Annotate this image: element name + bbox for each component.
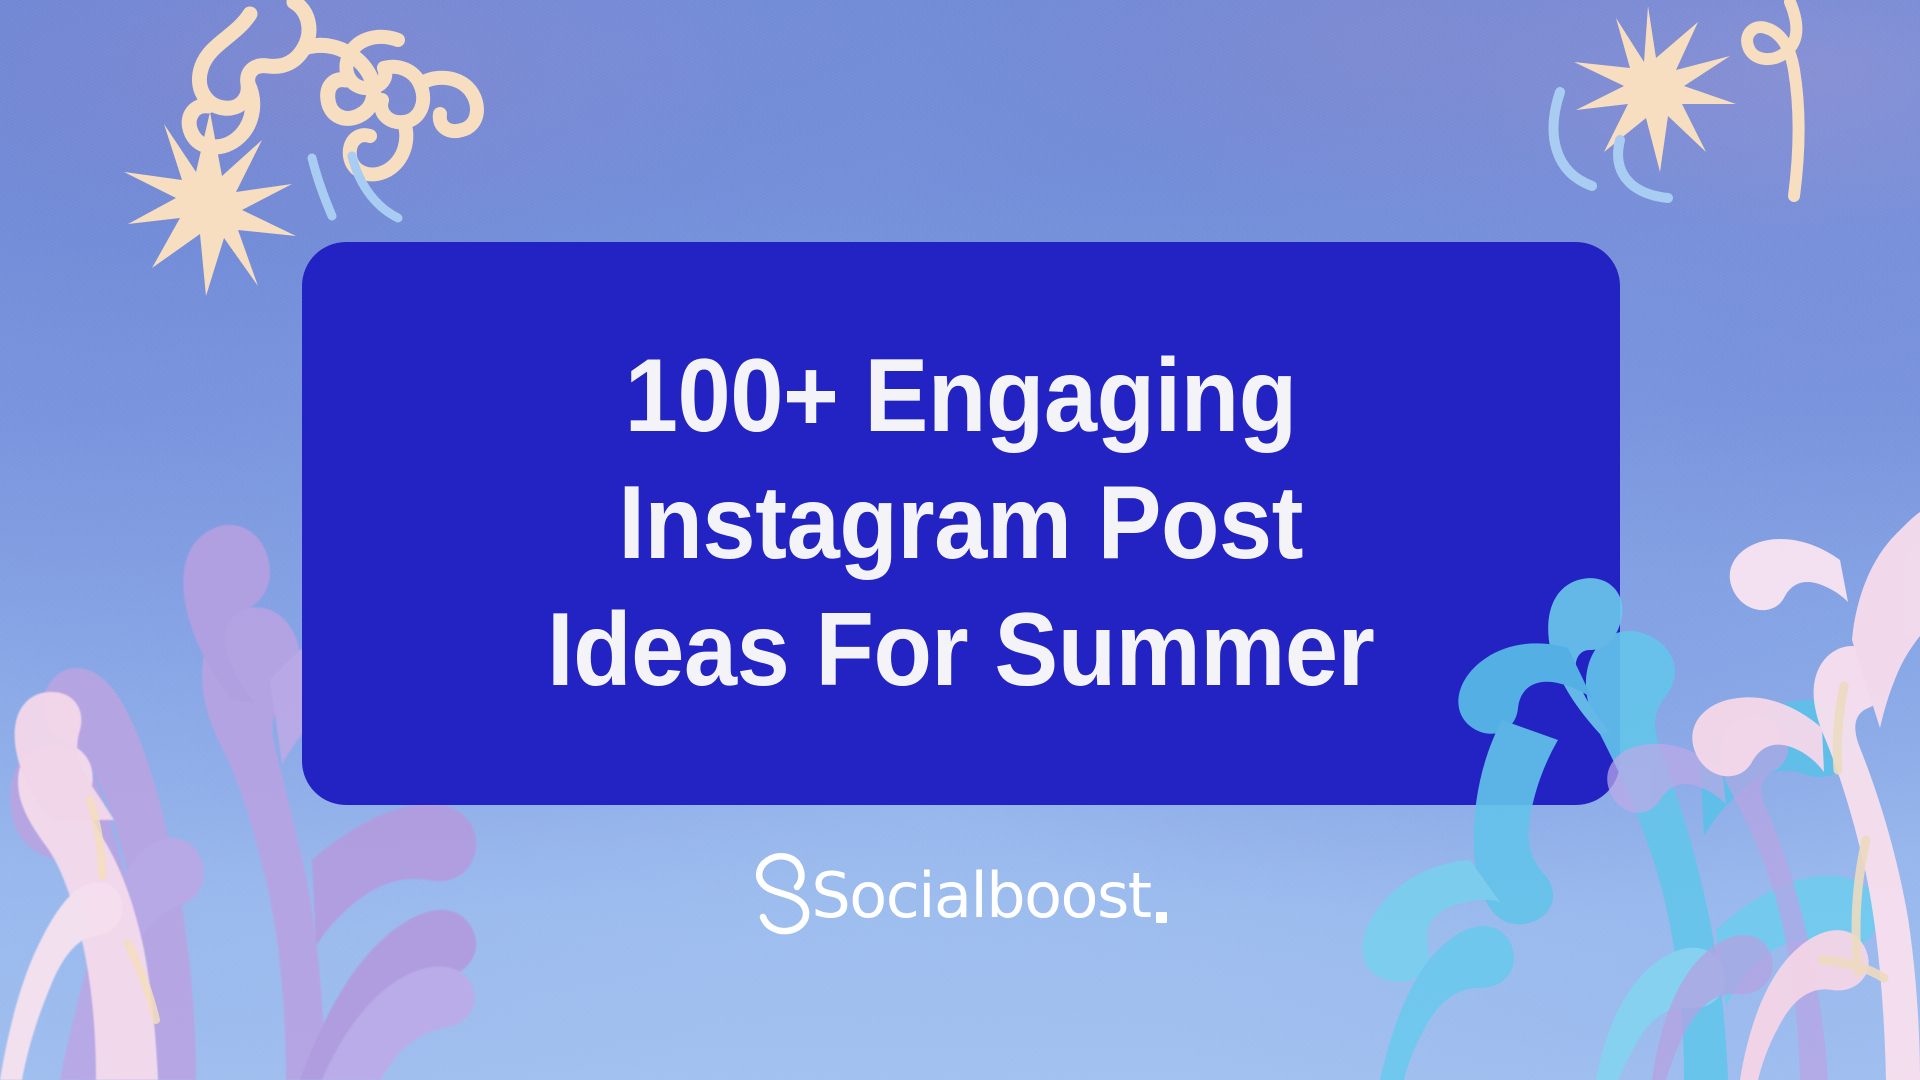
page-title: 100+ Engaging Instagram Post Ideas For S… xyxy=(510,333,1411,714)
starburst-doodle-right xyxy=(1574,6,1736,172)
starfish-outline-doodle-2 xyxy=(346,37,477,175)
wave-stroke-doodle xyxy=(312,156,398,218)
headline-card: 100+ Engaging Instagram Post Ideas For S… xyxy=(302,242,1620,805)
brand-logo[interactable]: Socialboost xyxy=(0,848,1920,938)
coral-pink-right xyxy=(1692,512,1920,1080)
wave-stroke-doodle-right xyxy=(1554,92,1668,198)
logo-wordmark: Socialboost xyxy=(811,865,1150,927)
socialboost-s-swash-icon xyxy=(753,851,815,935)
cover-canvas: 100+ Engaging Instagram Post Ideas For S… xyxy=(0,0,1920,1080)
logo-period-icon xyxy=(1156,912,1167,923)
looped-line-doodle xyxy=(1747,2,1798,196)
starfish-outline-doodle xyxy=(189,2,374,147)
starburst-doodle xyxy=(124,112,296,296)
